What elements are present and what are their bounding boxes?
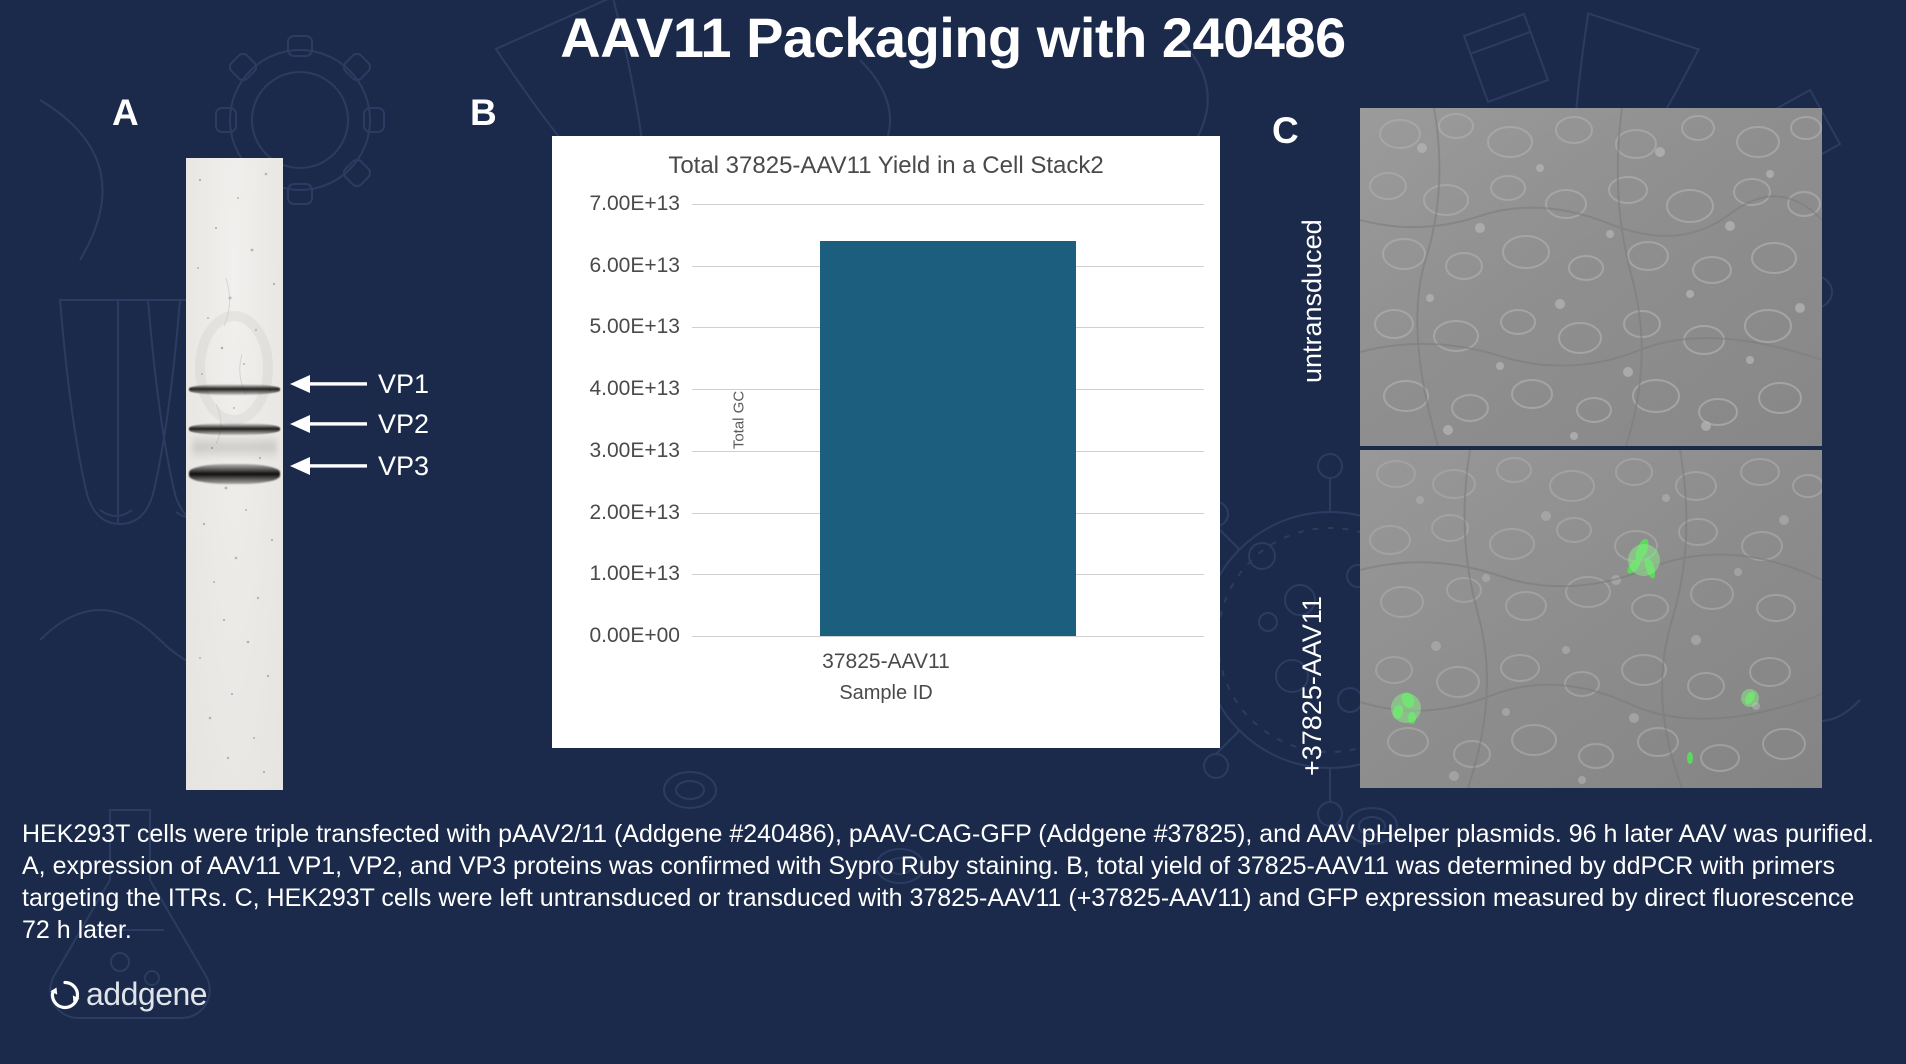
chart-y-axis-title: Total GC bbox=[731, 391, 748, 449]
gel-band-vp3 bbox=[189, 464, 280, 484]
panel-b-chart-card: Total 37825-AAV11 Yield in a Cell Stack2… bbox=[552, 136, 1220, 748]
chart-y-tick-label: 1.00E+13 bbox=[589, 562, 680, 586]
chart-category-label: 37825-AAV11 bbox=[552, 650, 1220, 674]
panel-a-gel: A bbox=[0, 0, 470, 800]
addgene-logo-text: addgene bbox=[86, 976, 207, 1013]
chart-title: Total 37825-AAV11 Yield in a Cell Stack2 bbox=[552, 152, 1220, 180]
figure-caption: HEK293T cells were triple transfected wi… bbox=[22, 818, 1884, 946]
chart-y-tick-label: 6.00E+13 bbox=[589, 254, 680, 278]
panel-c-microscopy bbox=[1360, 108, 1822, 788]
microscopy-image-untransduced bbox=[1360, 108, 1822, 446]
chart-gridline bbox=[692, 204, 1204, 205]
gel-annotation-vp3: VP3 bbox=[288, 454, 429, 478]
chart-y-tick-label: 0.00E+00 bbox=[589, 624, 680, 648]
microscopy-image-transduced bbox=[1360, 450, 1822, 788]
gel-annotation-vp2: VP2 bbox=[288, 412, 429, 436]
panel-b-letter: B bbox=[470, 92, 497, 134]
gel-annotation-vp1: VP1 bbox=[288, 372, 429, 396]
addgene-circular-arrow-icon bbox=[48, 978, 82, 1012]
left-arrow-icon bbox=[288, 372, 368, 396]
gel-annotation-label: VP2 bbox=[378, 409, 429, 440]
chart-gridline bbox=[692, 636, 1204, 637]
chart-y-tick-label: 5.00E+13 bbox=[589, 315, 680, 339]
left-arrow-icon bbox=[288, 454, 368, 478]
panel-c-top-label: untransduced bbox=[1297, 219, 1328, 383]
gel-annotation-label: VP3 bbox=[378, 451, 429, 482]
chart-y-tick-label: 3.00E+13 bbox=[589, 439, 680, 463]
addgene-logo[interactable]: addgene bbox=[48, 976, 207, 1013]
panel-c-letter: C bbox=[1272, 110, 1299, 152]
gel-annotation-label: VP1 bbox=[378, 369, 429, 400]
figure-root: AAV11 Packaging with 240486 A bbox=[0, 0, 1906, 1064]
gel-band-vp1 bbox=[189, 384, 280, 395]
chart-x-axis-title: Sample ID bbox=[552, 682, 1220, 705]
chart-plot-area: Total GC 0.00E+001.00E+132.00E+133.00E+1… bbox=[692, 204, 1204, 636]
panel-c-bottom-label: +37825-AAV11 bbox=[1297, 596, 1328, 776]
left-arrow-icon bbox=[288, 412, 368, 436]
chart-y-tick-label: 2.00E+13 bbox=[589, 501, 680, 525]
gel-band-vp2 bbox=[189, 423, 280, 435]
chart-y-tick-label: 7.00E+13 bbox=[589, 192, 680, 216]
panel-a-letter: A bbox=[112, 92, 139, 134]
chart-bar[interactable] bbox=[820, 241, 1076, 636]
gel-smear bbox=[192, 434, 277, 460]
chart-y-tick-label: 4.00E+13 bbox=[589, 377, 680, 401]
gel-lane-image bbox=[186, 158, 283, 790]
